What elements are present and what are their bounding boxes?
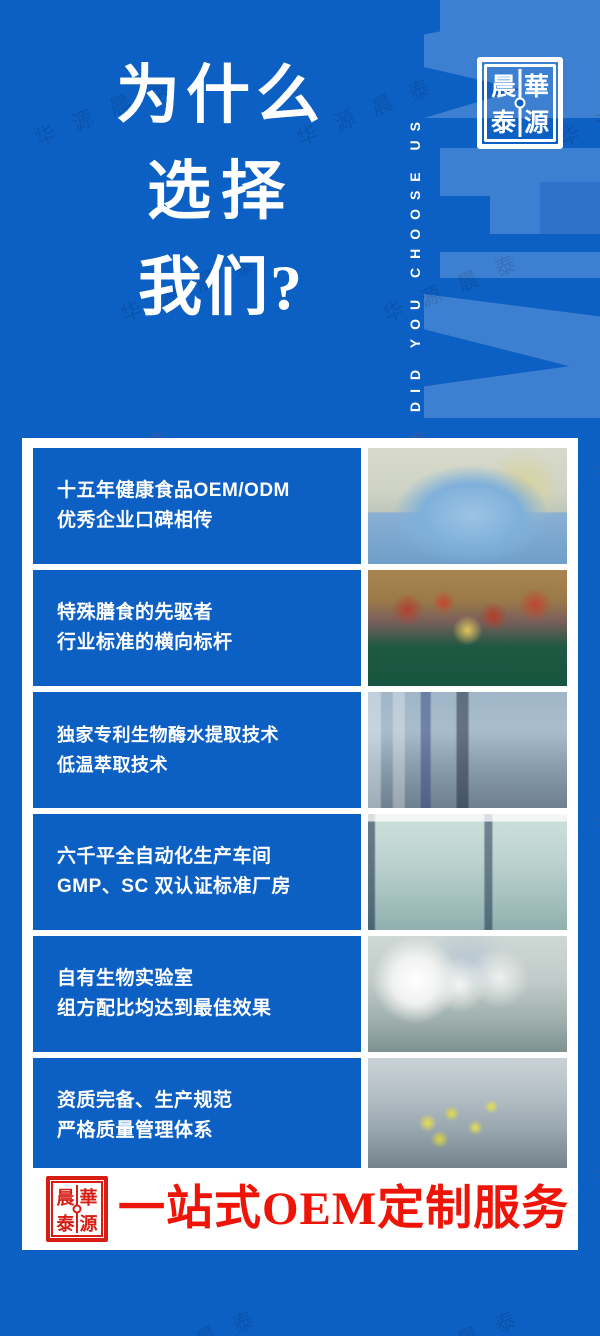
feature-line-2: 低温萃取技术 <box>57 750 361 780</box>
feature-line-1: 六千平全自动化生产车间 <box>57 842 361 872</box>
seal-char-bottom-right: 源 <box>520 103 553 139</box>
feature-line-2: 行业标准的横向标杆 <box>57 628 361 658</box>
hero-section: 为什么 选择 我们? DID YOU CHOOSE US 晨 華 泰 源 <box>0 0 600 438</box>
feature-card-image <box>368 814 567 930</box>
watermark-text: 华 源 晨 泰 <box>378 1301 527 1336</box>
brand-seal-icon: 晨 華 泰 源 <box>477 57 563 149</box>
feature-line-2: GMP、SC 双认证标准厂房 <box>57 872 361 902</box>
photo-blister-packaging-tablets <box>368 1058 567 1174</box>
vertical-english-caption: DID YOU CHOOSE US <box>398 22 432 412</box>
feature-card-text: 资质完备、生产规范 严格质量管理体系 <box>33 1058 361 1174</box>
feature-line-1: 资质完备、生产规范 <box>57 1086 361 1116</box>
seal-char-bottom-left: 泰 <box>487 103 520 139</box>
seal-char-top-left: 晨 <box>487 67 520 103</box>
watermark-text: 华 源 晨 泰 <box>0 949 3 1033</box>
footer-seal-char-bottom-left: 泰 <box>54 1210 77 1236</box>
feature-card-text: 特殊膳食的先驱者 行业标准的横向标杆 <box>33 570 361 686</box>
feature-card-image <box>368 692 567 808</box>
feature-line-1: 十五年健康食品OEM/ODM <box>57 476 361 506</box>
feature-card-list: 十五年健康食品OEM/ODM 优秀企业口碑相传 特殊膳食的先驱者 行业标准的横向… <box>33 448 567 1174</box>
feature-card-text: 六千平全自动化生产车间 GMP、SC 双认证标准厂房 <box>33 814 361 930</box>
feature-card-image <box>368 448 567 564</box>
footer-seal-char-top-right: 華 <box>77 1184 100 1210</box>
photo-workers-inspecting-production-line <box>368 936 567 1052</box>
features-panel: 十五年健康食品OEM/ODM 优秀企业口碑相传 特殊膳食的先驱者 行业标准的横向… <box>22 438 578 1250</box>
feature-card-image <box>368 1058 567 1174</box>
footer-banner: 晨 華 泰 源 一站式OEM定制服务 <box>22 1168 578 1250</box>
title-line-1: 为什么 <box>62 48 380 144</box>
vertical-english-text: DID YOU CHOOSE US <box>407 113 423 412</box>
feature-card-image <box>368 570 567 686</box>
photo-filling-machine-production-line <box>368 692 567 808</box>
footer-seal-char-top-left: 晨 <box>54 1184 77 1210</box>
feature-card[interactable]: 六千平全自动化生产车间 GMP、SC 双认证标准厂房 <box>33 814 567 930</box>
watermark-text: 华 源 晨 泰 <box>0 1301 3 1336</box>
feature-line-1: 特殊膳食的先驱者 <box>57 598 361 628</box>
feature-card[interactable]: 独家专利生物酶水提取技术 低温萃取技术 <box>33 692 567 808</box>
feature-card-text: 自有生物实验室 组方配比均达到最佳效果 <box>33 936 361 1052</box>
watermark-text: 华 源 晨 泰 <box>116 1301 265 1336</box>
feature-card[interactable]: 资质完备、生产规范 严格质量管理体系 <box>33 1058 567 1174</box>
promotional-poster: 为什么 选择 我们? DID YOU CHOOSE US 晨 華 泰 源 十 <box>0 0 600 1336</box>
photo-conference-audience-hall <box>368 570 567 686</box>
feature-line-2: 严格质量管理体系 <box>57 1116 361 1146</box>
footer-slogan: 一站式OEM定制服务 <box>118 1183 569 1235</box>
feature-card[interactable]: 特殊膳食的先驱者 行业标准的横向标杆 <box>33 570 567 686</box>
feature-card-text: 十五年健康食品OEM/ODM 优秀企业口碑相传 <box>33 448 361 564</box>
page-title: 为什么 选择 我们? <box>62 48 380 336</box>
title-line-3: 我们? <box>62 240 380 336</box>
feature-card-image <box>368 936 567 1052</box>
feature-line-1: 独家专利生物酶水提取技术 <box>57 720 361 750</box>
photo-clean-room-corridor <box>368 814 567 930</box>
footer-seal-center-dot <box>75 1207 80 1212</box>
feature-card-text: 独家专利生物酶水提取技术 低温萃取技术 <box>33 692 361 808</box>
feature-card[interactable]: 自有生物实验室 组方配比均达到最佳效果 <box>33 936 567 1052</box>
footer-seal-icon: 晨 華 泰 源 <box>46 1176 108 1242</box>
feature-line-1: 自有生物实验室 <box>57 964 361 994</box>
seal-char-top-right: 華 <box>520 67 553 103</box>
feature-card[interactable]: 十五年健康食品OEM/ODM 优秀企业口碑相传 <box>33 448 567 564</box>
feature-line-2: 优秀企业口碑相传 <box>57 506 361 536</box>
photo-lab-technician-testing-sample <box>368 448 567 564</box>
seal-center-dot <box>517 100 524 107</box>
watermark-text: 华 源 晨 泰 <box>0 597 3 681</box>
title-line-2: 选择 <box>62 144 380 240</box>
feature-line-2: 组方配比均达到最佳效果 <box>57 994 361 1024</box>
footer-seal-char-bottom-right: 源 <box>77 1210 100 1236</box>
